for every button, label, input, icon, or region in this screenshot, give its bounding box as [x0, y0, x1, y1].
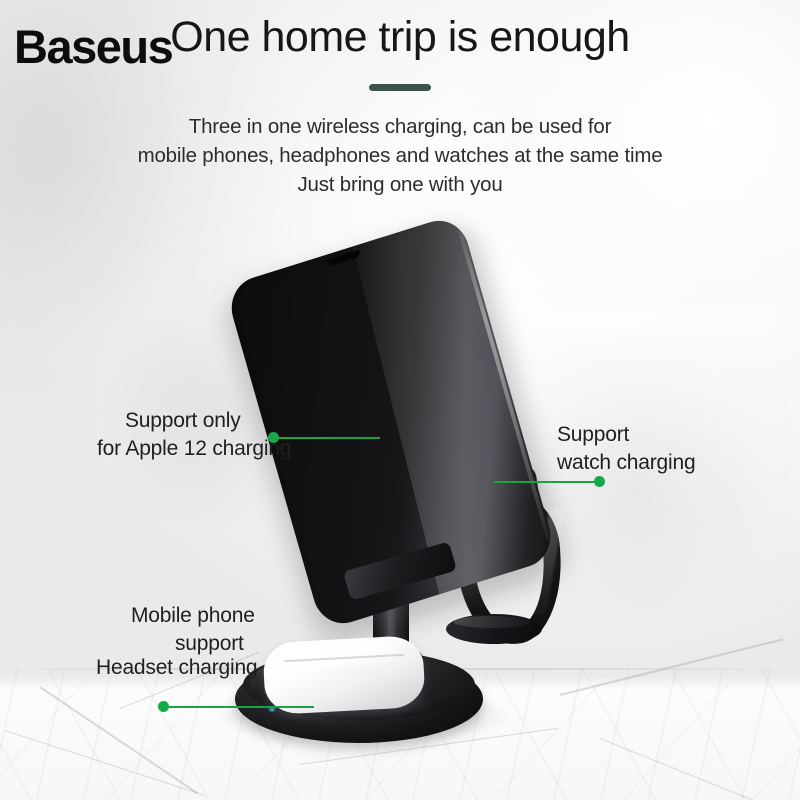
callout-watch-line-1: Support [557, 420, 629, 450]
subtitle-line-3: Just bring one with you [0, 170, 800, 199]
smartwatch [461, 463, 541, 519]
stand-stem-highlight [388, 480, 395, 670]
callout-watch-line-2: watch charging [557, 448, 695, 478]
phone-cradle-arm [359, 461, 451, 553]
earbuds-case-seam [284, 654, 404, 662]
phone-screen-glare [340, 213, 558, 631]
earbuds-case-highlight [278, 642, 397, 668]
watch-band-highlight [531, 508, 565, 617]
subtitle-line-1: Three in one wireless charging, can be u… [0, 112, 800, 141]
background-shade-right [450, 330, 790, 690]
callout-phone-leader-line [276, 437, 380, 439]
phone-screen [232, 221, 551, 624]
smartphone [224, 213, 557, 631]
subtitle-block: Three in one wireless charging, can be u… [0, 112, 800, 199]
marble-surface [0, 668, 800, 800]
callout-phone-dot [268, 432, 279, 443]
callout-watch-dot [594, 476, 605, 487]
promo-image: Baseus One home trip is enough Three in … [0, 0, 800, 800]
marble-vein [40, 686, 198, 794]
marble-vein [5, 730, 205, 796]
watch-band [453, 489, 565, 646]
callout-earbuds-dot [158, 701, 169, 712]
marble-vein [300, 728, 558, 765]
callout-phone-line-1: Support only [125, 406, 241, 436]
phone-cradle-lip [343, 541, 457, 600]
marble-vein [560, 638, 784, 695]
marble-vein [600, 738, 767, 800]
watch-shelf [446, 614, 542, 644]
callout-earbuds-leader-line [166, 706, 314, 708]
callout-earbuds-line-1: Mobile phone [131, 601, 255, 631]
watch-dock-arm [450, 479, 498, 548]
title-underline-rule [369, 84, 431, 91]
callout-watch-leader-line [494, 481, 596, 483]
stand-stem [373, 478, 409, 678]
subtitle-line-2: mobile phones, headphones and watches at… [0, 141, 800, 170]
phone-notch [327, 250, 361, 267]
callout-earbuds-line-3: Headset charging [96, 653, 257, 683]
watch-face-highlight [469, 468, 532, 490]
callout-phone-line-2: for Apple 12 charging [97, 434, 291, 464]
phone-edge-highlight [456, 223, 551, 541]
watch-shelf-highlight [454, 616, 530, 628]
page-title: One home trip is enough [0, 14, 800, 61]
